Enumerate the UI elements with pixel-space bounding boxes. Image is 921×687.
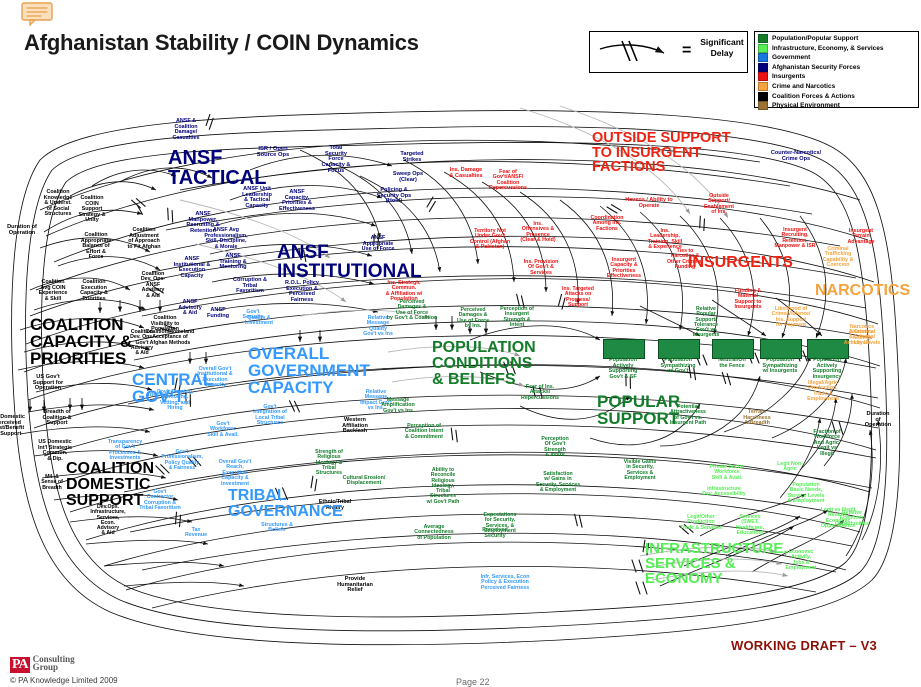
causal-node: Policing & Security Ops (Hold) — [377, 188, 412, 205]
causal-node: Perceived Security — [482, 528, 507, 539]
causal-node: Coalition Execution Capacity & Prioritie… — [80, 280, 108, 302]
legend-item: Government — [758, 53, 918, 62]
page-number: Page 22 — [456, 677, 490, 687]
legend-item: Infrastructure, Economy, & Services — [758, 44, 918, 53]
causal-node: Counter-Narcotics/ Crime Ops — [771, 151, 821, 162]
working-draft-label: WORKING DRAFT – V3 — [731, 638, 877, 653]
cluster-heading-ansf-institutional: ANSF INSTITUTIONAL — [277, 243, 422, 281]
legend-item-label: Government — [772, 54, 810, 61]
causal-node: Strength of Religious Ideology & Tribal … — [315, 450, 343, 476]
cluster-heading-coalition-capacity: COALITION CAPACITY & PRIORITIES — [30, 316, 132, 367]
causal-node: Satisfaction w/ Gains in Security, Servi… — [536, 472, 580, 493]
causal-node: Provide Humanitarian Relief — [337, 577, 373, 594]
pa-consulting-logo: PAConsulting Group — [10, 655, 75, 673]
legend-item-label: Population/Popular Support — [772, 35, 858, 42]
causal-node: Perceived Damages & Use of Force by Ins. — [457, 308, 489, 330]
causal-node: Duration of Operation — [865, 412, 891, 429]
causal-node: Gov't Workforce Skill & Avail. — [207, 422, 238, 438]
causal-node: Tax Revenue — [185, 528, 207, 539]
cluster-heading-narcotics: NARCOTICS — [815, 283, 910, 299]
stock-box — [760, 339, 802, 359]
legend-item-label: Insurgents — [772, 73, 805, 80]
causal-node: Perception Of Gov't Strength & Intent — [541, 437, 568, 459]
legend-color-swatch — [758, 44, 768, 53]
causal-node: Insurgent Terrain Advantage — [847, 229, 874, 245]
causal-node: Gov't Integration of Local Tribal Struct… — [253, 405, 287, 427]
causal-node: US Domestic Int'l Strategic Commun. & Di… — [38, 440, 72, 462]
legend-item: Afghanistan Security Forces — [758, 63, 918, 72]
causal-node: ANSF Advisory & Aid — [178, 300, 202, 317]
causal-node: Western Affiliation Backlash — [342, 418, 368, 435]
causal-node: Fraction of Workforce And Agric. Legit v… — [813, 430, 840, 457]
cluster-heading-ansf-tactical: ANSF TACTICAL — [168, 148, 267, 188]
causal-node: Perception of Insurgent Strength & Inten… — [500, 307, 534, 329]
causal-node: Coalition Appropriate Balance of Effort … — [81, 233, 112, 261]
delay-equals-sign: = — [682, 42, 691, 60]
stock-box-label: Population Sympathizing w/ Gov't — [650, 358, 706, 375]
causal-node: Structures & Beliefs — [261, 523, 293, 534]
causal-node: Ins. Provision Of Gov't & Services — [524, 260, 559, 276]
causal-node: Legit Non- Agric — [777, 462, 803, 473]
causal-node: Cultural Erosion/ Displacement — [343, 476, 386, 487]
causal-node: Criminal Trafficking Capability & Coerci… — [823, 247, 854, 269]
causal-node: Insurgent Recruiting, Retention, Manpowe… — [775, 228, 816, 249]
causal-node: Illegal/Agric Production, Trade & Employ… — [807, 381, 839, 403]
cluster-heading-coalition-domestic: COALITION DOMESTIC SUPPORT — [66, 461, 154, 509]
causal-node: Services (SWET, Healthcare, Education) — [736, 515, 764, 536]
causal-node: Economic Activity, Jobs & Employment — [785, 550, 816, 571]
legend-item-label: Infrastructure, Economy, & Services — [772, 45, 884, 52]
causal-node: Corruption & Tribal Favoritism — [233, 278, 267, 295]
cluster-heading-tribal-governance: TRIBAL GOVERNANCE — [228, 488, 343, 520]
causal-node: Likelihood of Crime/Violence/ Ins. Suppo… — [772, 307, 811, 328]
delayed-arrow-icon — [592, 33, 680, 71]
cluster-heading-central-govt: CENTRAL GOV'T — [132, 371, 213, 405]
causal-node: Total Security Force Capacity & Focus — [322, 146, 351, 175]
causal-node: Average Connectedness of Population — [414, 525, 453, 541]
cluster-heading-overall-government-capacity: OVERALL GOVERNMENT CAPACITY — [248, 345, 370, 396]
legend-color-swatch — [758, 92, 768, 101]
causal-node: Coalition/Homeland Acceptance of Afghan … — [146, 330, 195, 346]
pa-logo-text: Consulting Group — [33, 655, 75, 671]
causal-node: Message Amplification Gov't vs Ins — [381, 398, 415, 414]
legend-item-label: Physical Environment — [772, 102, 840, 109]
stock-box-label: Population Actively Supporting Gov't & S… — [595, 358, 651, 380]
causal-node: ANSF Funding — [207, 308, 229, 319]
causal-node: Private Sector Workforce Skill & Avail. — [710, 465, 745, 481]
causal-node: US Domestic Perceived Cost/Benefit & Sup… — [0, 415, 25, 437]
comment-icon[interactable] — [20, 2, 56, 26]
causal-node: Outside Support/ Enablement of Ins. — [704, 194, 734, 216]
causal-node: Coalition Adjustment of Approach to Fit … — [127, 228, 160, 250]
causal-node: Duration of Operation — [7, 225, 37, 236]
cluster-heading-insurgents: INSURGENTS — [688, 255, 793, 271]
causal-node: Mil. & Sense of Breadth — [41, 475, 63, 491]
legend-item-label: Coalition Forces & Actions — [772, 93, 855, 100]
legend-color-swatch — [758, 82, 768, 91]
causal-node: Coalition Avg COIN Experience & Skill — [39, 280, 68, 302]
stock-box-label: Population Actively Supporting Insurgenc… — [799, 358, 855, 380]
legend-item: Physical Environment — [758, 101, 918, 110]
legend-item-label: Afghanistan Security Forces — [772, 64, 860, 71]
legend-item: Insurgents — [758, 72, 918, 81]
causal-node: Targeted Strikes — [400, 152, 423, 163]
causal-node: Ins. Targeted Attacks on Progress/ Suppo… — [562, 287, 594, 308]
causal-node: Fear of Gov't/ANSF/ Coalition Repercussi… — [489, 170, 527, 192]
causal-node: Overall Gov't Reach, Execution Capacity … — [219, 460, 252, 487]
causal-node: Coalition COIN Support Strategy & Unity — [79, 196, 106, 224]
causal-node: Perceived Damages & Use of Force by Gov'… — [387, 300, 437, 322]
causal-node: Coordination Among Ins. Factions — [591, 216, 624, 232]
legend-color-swatch — [758, 63, 768, 72]
causal-node: Infrastructure Dev. Accessibility — [702, 487, 746, 498]
causal-node: Breadth of Coalition & Support — [42, 410, 71, 427]
legend-item: Coalition Forces & Actions — [758, 92, 918, 101]
cluster-heading-outside-support: OUTSIDE SUPPORT TO INSURGENT FACTIONS — [592, 131, 731, 175]
causal-node: Visible Gains in Security, Services & Em… — [624, 460, 657, 481]
causal-node: Terrain Harshness & Breadth — [743, 410, 771, 427]
causal-node: US Gov't Support for Operation — [33, 375, 63, 392]
causal-node: Insurgent Capacity & Priorities Effectiv… — [607, 258, 641, 280]
causal-node: Legit/Other Production Trade & Services — [680, 515, 722, 531]
cluster-heading-infrastructure: INFRASTRUCTURE, SERVICES & ECONOMY — [645, 541, 788, 586]
causal-node: Ability to Reconcile Religious Ideology,… — [427, 468, 460, 505]
causal-node: Perception of Coalition Intent & Commitm… — [405, 424, 444, 440]
significant-delay-key: = Significant Delay — [589, 31, 748, 73]
causal-node: Relative Economic Opportunities — [835, 511, 869, 527]
causal-node: Coalition Dev. Ops- ANSF Advisory & Aid — [141, 272, 165, 299]
causal-node: Narcotics & Criminal Activity Levels — [844, 330, 880, 346]
stock-box — [712, 339, 754, 359]
causal-node: ANSF & Coalition Damage/ Casualties — [173, 119, 200, 141]
causal-node: Territory Not Under Gov't Control (Afgha… — [470, 229, 510, 251]
causal-node: Gov't Professionalism, Policy Quality & … — [161, 450, 203, 471]
copyright-notice: © PA Knowledge Limited 2009 — [10, 676, 118, 685]
page-title: Afghanistan Stability / COIN Dynamics — [24, 30, 419, 56]
causal-node: Ins. Offensives & Presence (Clear & Hold… — [520, 222, 555, 244]
legend-item: Population/Popular Support — [758, 34, 918, 43]
causal-node: ANSF Capacity, Priorities & Effectivenes… — [279, 190, 315, 213]
causal-node: Sweep Ops (Clear) — [393, 172, 423, 183]
legend-item-label: Crime and Narcotics — [772, 83, 835, 90]
causal-node: Population Basic Needs, Service Levels &… — [787, 483, 824, 505]
causal-node: ANSF Unit Leadership & Tactical Capacity — [242, 187, 272, 210]
cluster-heading-population-conditions: POPULATION CONDITIONS & BELIEFS — [432, 340, 536, 388]
causal-node: ANSF Training & Mentoring — [219, 254, 246, 271]
causal-node: Relative Popular Support/ Tolerance Gov'… — [693, 307, 720, 339]
delay-key-label: Significant Delay — [698, 37, 746, 59]
causal-node: Coalition Knowledge & Underst. of Social… — [44, 190, 73, 218]
causal-node: Gov't Security — [243, 310, 264, 321]
causal-node: Ins. Damage & Casualties — [449, 168, 482, 179]
causal-node: ANSF Institutional & Execution Capacity — [174, 257, 211, 279]
stock-box — [658, 339, 700, 359]
causal-node: ANSF Avg Professionalism, Skill, Discipl… — [204, 228, 247, 250]
pa-logo-mark: PA — [10, 657, 30, 673]
legend: Population/Popular SupportInfrastructure… — [754, 31, 919, 108]
causal-node: Funding & Material Support to Insurgents — [734, 289, 761, 311]
legend-color-swatch — [758, 34, 768, 43]
causal-node: Havens / Ability to Operate — [625, 198, 672, 209]
legend-color-swatch — [758, 72, 768, 81]
cluster-heading-popular-support: POPULAR SUPPORT — [597, 393, 680, 427]
legend-color-swatch — [758, 53, 768, 62]
causal-node: Dev.Ops. Infrastructure, Services, Econ.… — [90, 505, 125, 537]
causal-node: R.O.L. Policy Execution & Perceived Fair… — [285, 281, 319, 303]
legend-item: Crime and Narcotics — [758, 82, 918, 91]
causal-node: Infr, Services, Econ Policy & Execution … — [481, 575, 530, 591]
causal-node: Transparency of Gov't Processes & Invest… — [108, 440, 142, 462]
stock-box — [603, 339, 645, 359]
stock-box — [807, 339, 849, 359]
slide-canvas: Afghanistan Stability / COIN Dynamics = … — [0, 0, 921, 687]
legend-color-swatch — [758, 101, 768, 110]
